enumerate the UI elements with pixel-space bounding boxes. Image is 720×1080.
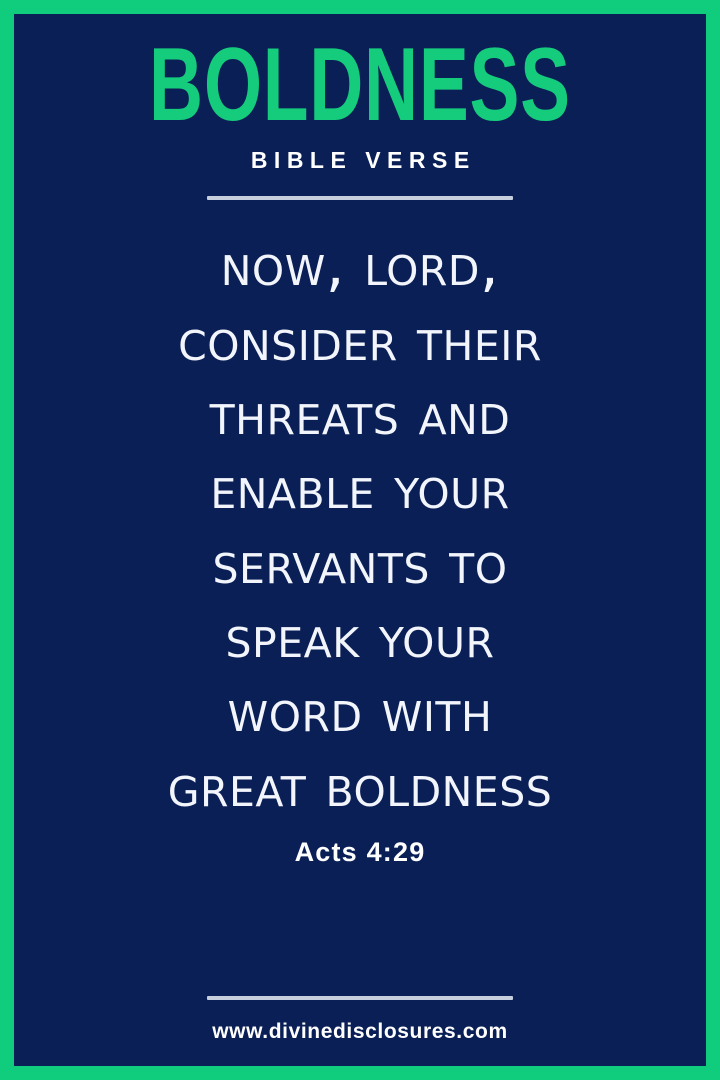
page-title: BOLDNESS xyxy=(149,42,571,129)
poster-frame: BOLDNESS BIBLE VERSE Now, Lord, consider… xyxy=(0,0,720,1080)
poster-inner-panel: BOLDNESS BIBLE VERSE Now, Lord, consider… xyxy=(14,14,706,1066)
verse-text: Now, Lord, consider their threats and en… xyxy=(60,228,660,823)
verse-line: enable your xyxy=(60,451,660,525)
verse-line: consider their xyxy=(60,303,660,377)
verse-line: great boldness xyxy=(60,749,660,823)
divider-top xyxy=(207,196,513,200)
verse-line: servants to xyxy=(60,526,660,600)
poster-subtitle: BIBLE VERSE xyxy=(244,147,475,174)
footer: www.divinedisclosures.com xyxy=(14,996,706,1044)
footer-website-url: www.divinedisclosures.com xyxy=(212,1020,507,1044)
verse-line: Now, Lord, xyxy=(60,228,660,302)
verse-reference: Acts 4:29 xyxy=(295,837,426,868)
verse-line: speak your xyxy=(60,600,660,674)
verse-line: threats and xyxy=(60,377,660,451)
verse-line: word with xyxy=(60,674,660,748)
divider-bottom xyxy=(207,996,513,1000)
